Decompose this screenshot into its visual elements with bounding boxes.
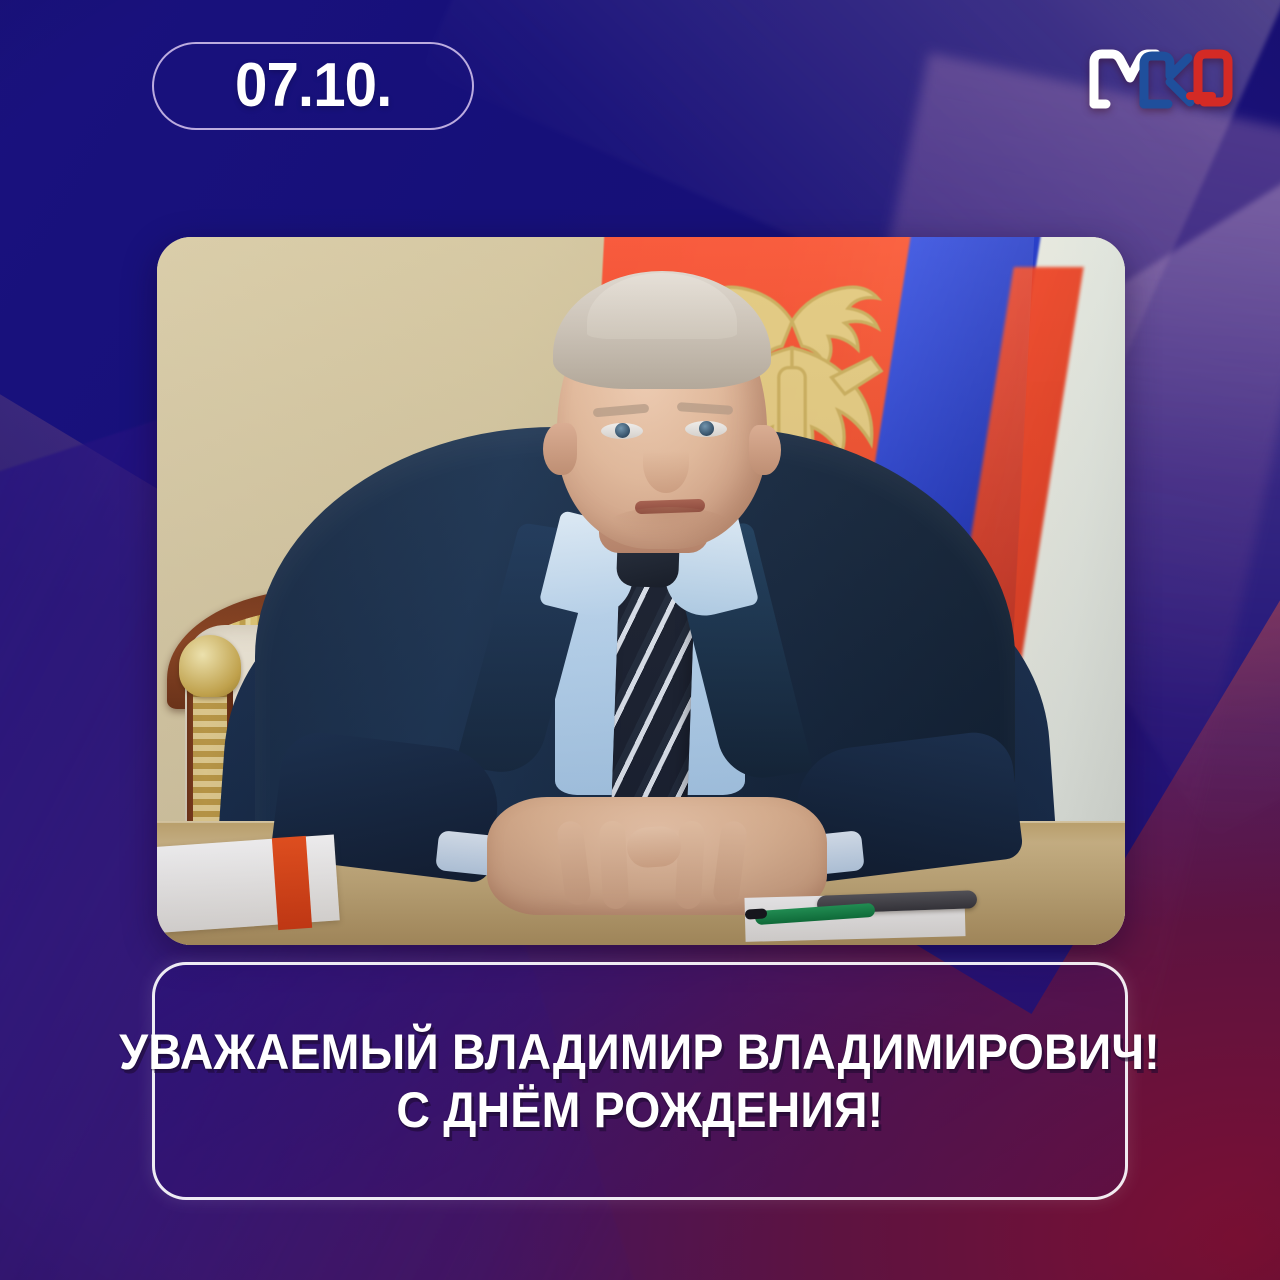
photo-pen-tip [745,908,768,920]
hero-photo [157,237,1125,945]
card-canvas: 07.10. [0,0,1280,1280]
photo-nose [643,433,689,493]
photo-iris-left [615,423,630,438]
photo-chair-finial [179,635,241,697]
photo-finger-2 [599,820,630,909]
photo-papers-left [157,834,340,933]
photo-ear-left [543,423,577,475]
caption-box: УВАЖАЕМЫЙ ВЛАДИМИР ВЛАДИМИРОВИЧ! С ДНЁМ … [152,962,1128,1200]
photo-finger-3 [675,820,706,909]
photo-chin-shadow [609,507,729,541]
photo-necktie [611,574,696,827]
photo-iris-right [699,421,714,436]
mkd-logo-icon [1086,38,1238,120]
photo-folder-stripe [272,836,312,930]
photo-ear-right [749,425,781,475]
caption-line-2: С ДНЁМ РОЖДЕНИЯ! [396,1083,883,1137]
date-badge-label: 07.10. [235,55,391,117]
caption-line-1: УВАЖАЕМЫЙ ВЛАДИМИР ВЛАДИМИРОВИЧ! [120,1025,1161,1079]
mkd-logo[interactable] [1086,38,1238,120]
date-badge: 07.10. [152,42,474,130]
